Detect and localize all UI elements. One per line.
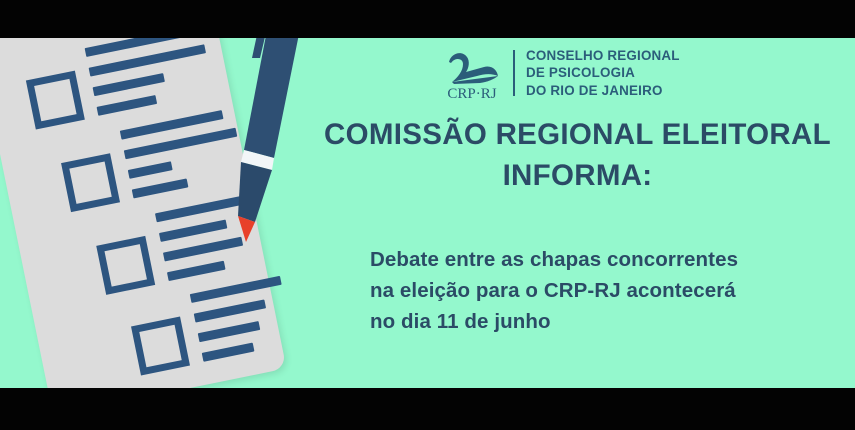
text-line (132, 178, 189, 198)
checkbox-4 (131, 317, 190, 376)
body-text: Debate entre as chapas concorrentes na e… (370, 245, 840, 337)
content-area: CRP·RJ CONSELHO REGIONAL DE PSICOLOGIA D… (300, 38, 855, 388)
text-line (163, 237, 243, 262)
letterbox-bar-bottom (0, 388, 855, 430)
logo-text-block: CONSELHO REGIONAL DE PSICOLOGIA DO RIO D… (526, 47, 680, 99)
text-line (198, 321, 261, 342)
text-line (93, 73, 165, 96)
headline-line-1: COMISSÃO REGIONAL ELEITORAL (300, 114, 855, 155)
text-line (128, 161, 173, 179)
paper-sheet (0, 0, 286, 416)
body-line-1: Debate entre as chapas concorrentes (370, 245, 840, 276)
text-line (97, 95, 158, 116)
logo-divider (513, 50, 515, 96)
crp-rj-logo: CRP·RJ CONSELHO REGIONAL DE PSICOLOGIA D… (442, 46, 680, 100)
logo-text-line-1: CONSELHO REGIONAL (526, 47, 680, 64)
text-line (194, 299, 266, 322)
text-line (159, 220, 227, 242)
logo-text-line-2: DE PSICOLOGIA (526, 64, 680, 81)
text-line (202, 343, 255, 362)
logo-text-line-3: DO RIO DE JANEIRO (526, 82, 680, 99)
headline: COMISSÃO REGIONAL ELEITORAL INFORMA: (300, 114, 855, 197)
logo-wordmark: CRP·RJ (447, 86, 496, 100)
banner-image: CRP·RJ CONSELHO REGIONAL DE PSICOLOGIA D… (0, 0, 855, 430)
text-line (167, 261, 226, 281)
letterbox-bar-top (0, 0, 855, 38)
checkbox-1 (26, 71, 85, 130)
text-line (190, 276, 282, 303)
headline-line-2: INFORMA: (300, 155, 855, 196)
checkbox-2 (61, 153, 120, 212)
body-line-3: no dia 11 de junho (370, 307, 840, 338)
body-line-2: na eleição para o CRP-RJ acontecerá (370, 276, 840, 307)
checkbox-3 (96, 236, 155, 295)
text-line (155, 193, 259, 223)
crp-rj-bird-logo-icon: CRP·RJ (442, 46, 502, 100)
